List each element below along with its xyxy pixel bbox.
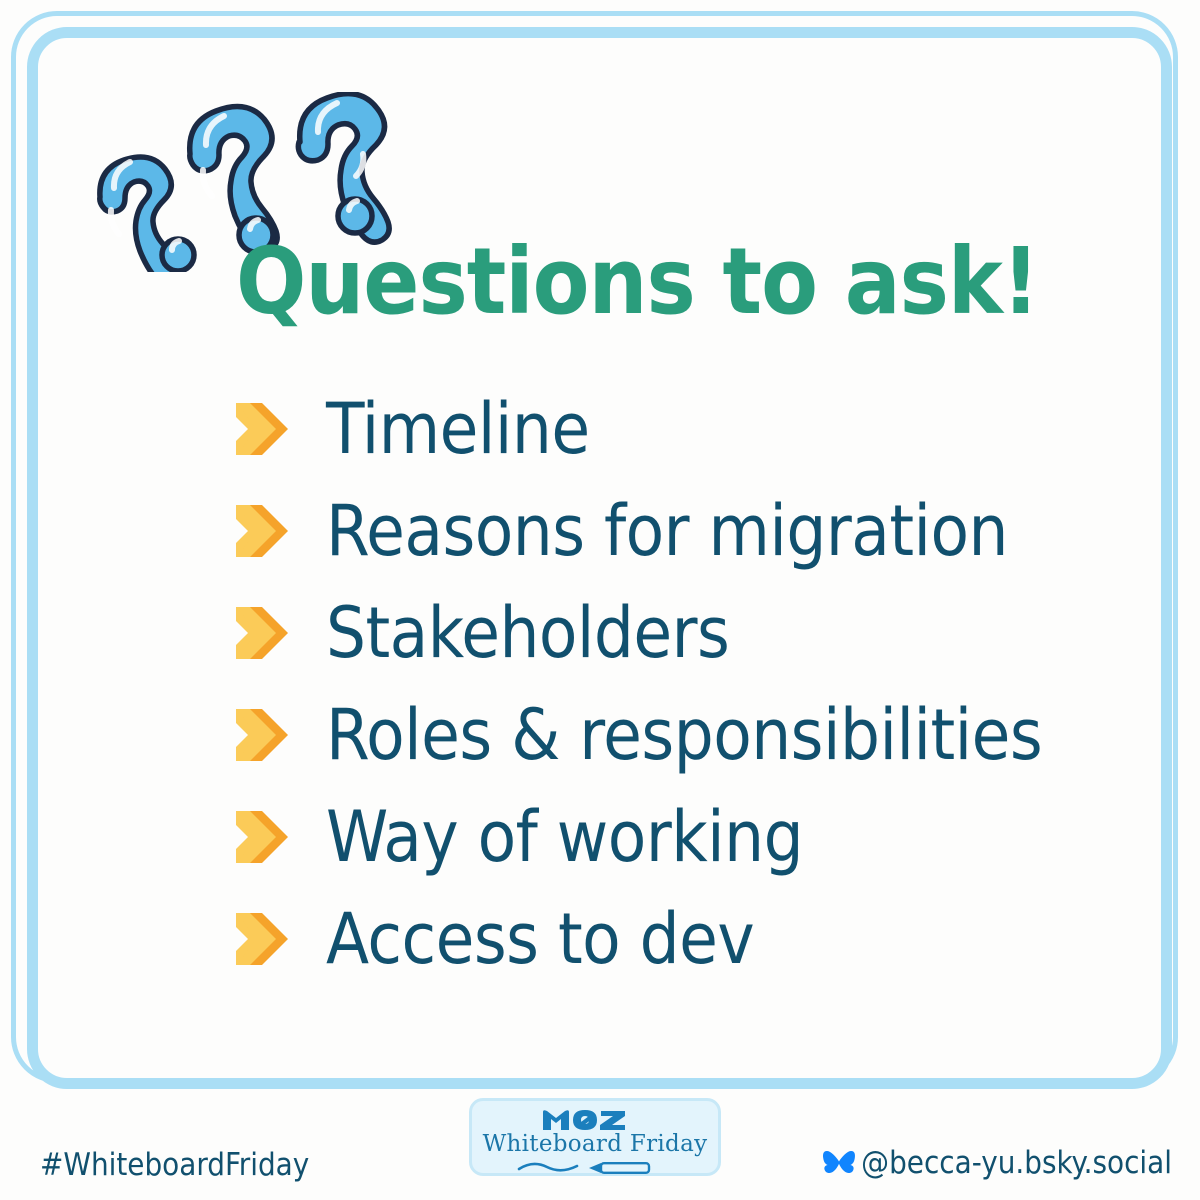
list-item-label: Reasons for migration	[326, 496, 1008, 566]
double-chevron-icon	[236, 503, 304, 559]
social-handle[interactable]: @becca-yu.bsky.social	[822, 1148, 1172, 1179]
hashtag-label: #WhiteboardFriday	[40, 1150, 309, 1181]
social-handle-label: @becca-yu.bsky.social	[861, 1148, 1172, 1179]
double-chevron-icon	[236, 605, 304, 661]
list-item: Reasons for migration	[236, 480, 1136, 582]
badge-series-label: Whiteboard Friday	[483, 1133, 708, 1156]
moz-logo-icon	[541, 1108, 649, 1132]
list-item-label: Stakeholders	[326, 598, 729, 668]
bluesky-butterfly-icon	[822, 1149, 856, 1179]
list-item: Access to dev	[236, 888, 1136, 990]
double-chevron-icon	[236, 809, 304, 865]
list-item: Roles & responsibilities	[236, 684, 1136, 786]
list-item: Timeline	[236, 378, 1136, 480]
moz-whiteboard-friday-badge: Whiteboard Friday	[469, 1098, 721, 1176]
double-chevron-icon	[236, 401, 304, 457]
double-chevron-icon	[236, 707, 304, 763]
double-chevron-icon	[236, 911, 304, 967]
slide-canvas: Questions to ask! Timeline Reasons	[0, 0, 1200, 1200]
page-title: Questions to ask!	[236, 236, 1039, 328]
questions-list: Timeline Reasons for migration Stake	[236, 378, 1136, 990]
list-item: Stakeholders	[236, 582, 1136, 684]
list-item-label: Timeline	[326, 394, 590, 464]
list-item-label: Access to dev	[326, 904, 754, 974]
marker-pen-squiggle-icon	[515, 1159, 675, 1177]
list-item-label: Roles & responsibilities	[326, 700, 1042, 770]
list-item-label: Way of working	[326, 802, 803, 872]
list-item: Way of working	[236, 786, 1136, 888]
